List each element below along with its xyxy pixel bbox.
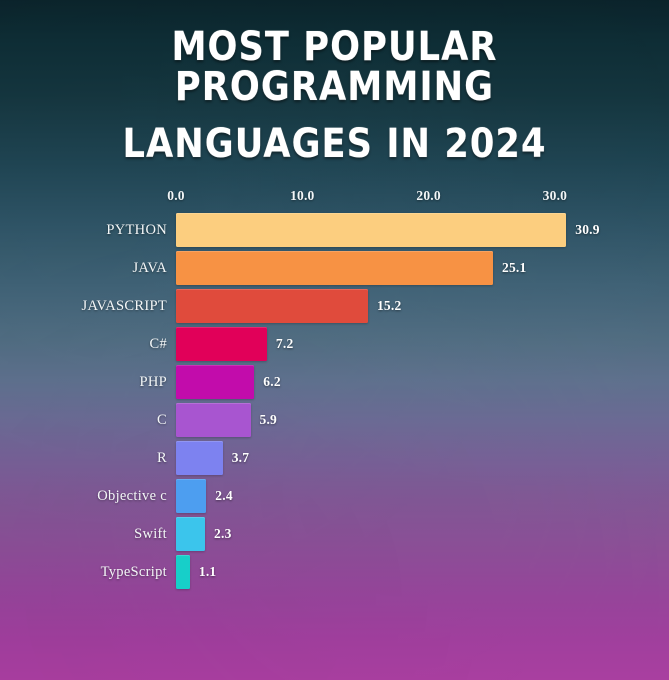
bar-category-label: C# bbox=[7, 336, 167, 353]
bar-and-value: 15.2 bbox=[176, 289, 401, 323]
bar-row: JAVA25.1 bbox=[0, 249, 669, 287]
bar-value-label: 3.7 bbox=[232, 450, 249, 466]
bar-category-label: JAVA bbox=[7, 260, 167, 277]
x-axis-tick-20: 20.0 bbox=[416, 188, 440, 204]
x-axis-tick-10: 10.0 bbox=[290, 188, 314, 204]
bar-row: PHP6.2 bbox=[0, 363, 669, 401]
bar bbox=[176, 555, 190, 589]
bar-row: C5.9 bbox=[0, 401, 669, 439]
bar-category-label: JAVASCRIPT bbox=[7, 298, 167, 315]
bar-and-value: 1.1 bbox=[176, 555, 216, 589]
bar-value-label: 25.1 bbox=[502, 260, 526, 276]
bar bbox=[176, 403, 251, 437]
bar-value-label: 1.1 bbox=[199, 564, 216, 580]
infographic-poster: Most Popular Programming Languages in 20… bbox=[0, 0, 669, 680]
bar-rows: PYTHON30.9JAVA25.1JAVASCRIPT15.2C#7.2PHP… bbox=[0, 211, 669, 591]
bar-row: JAVASCRIPT15.2 bbox=[0, 287, 669, 325]
bar-and-value: 2.3 bbox=[176, 517, 232, 551]
x-axis-tick-labels: 0.010.020.030.0 bbox=[0, 188, 669, 206]
bar bbox=[176, 479, 206, 513]
bar-category-label: Swift bbox=[7, 526, 167, 543]
bar-category-label: R bbox=[7, 450, 167, 467]
bar-and-value: 30.9 bbox=[176, 213, 600, 247]
bar-and-value: 7.2 bbox=[176, 327, 293, 361]
bar-value-label: 2.3 bbox=[214, 526, 231, 542]
bar-value-label: 15.2 bbox=[377, 298, 401, 314]
bar-value-label: 30.9 bbox=[575, 222, 599, 238]
bar-and-value: 3.7 bbox=[176, 441, 249, 475]
bar-category-label: Objective c bbox=[7, 488, 167, 505]
bar-and-value: 5.9 bbox=[176, 403, 277, 437]
bar-row: TypeScript1.1 bbox=[0, 553, 669, 591]
bar-value-label: 6.2 bbox=[263, 374, 280, 390]
bar-category-label: PYTHON bbox=[7, 222, 167, 239]
bar-row: Swift2.3 bbox=[0, 515, 669, 553]
page-title: Most Popular Programming Languages in 20… bbox=[0, 27, 669, 164]
bar bbox=[176, 213, 566, 247]
bar-row: R3.7 bbox=[0, 439, 669, 477]
bar-category-label: TypeScript bbox=[7, 564, 167, 581]
bar bbox=[176, 327, 267, 361]
x-axis-tick-0: 0.0 bbox=[167, 188, 184, 204]
x-axis-tick-30: 30.0 bbox=[543, 188, 567, 204]
bar-and-value: 25.1 bbox=[176, 251, 526, 285]
bar-row: Objective c2.4 bbox=[0, 477, 669, 515]
bar-category-label: C bbox=[7, 412, 167, 429]
bar-row: PYTHON30.9 bbox=[0, 211, 669, 249]
bar-value-label: 7.2 bbox=[276, 336, 293, 352]
bar-row: C#7.2 bbox=[0, 325, 669, 363]
bar bbox=[176, 289, 368, 323]
bar bbox=[176, 441, 223, 475]
page-title-line-1: Most Popular Programming bbox=[40, 27, 629, 107]
page-title-line-2: Languages in 2024 bbox=[40, 124, 629, 164]
bar-value-label: 5.9 bbox=[260, 412, 277, 428]
bar-value-label: 2.4 bbox=[215, 488, 232, 504]
bar bbox=[176, 365, 254, 399]
bar-and-value: 2.4 bbox=[176, 479, 233, 513]
bar bbox=[176, 517, 205, 551]
bar-category-label: PHP bbox=[7, 374, 167, 391]
bar bbox=[176, 251, 493, 285]
bar-and-value: 6.2 bbox=[176, 365, 281, 399]
